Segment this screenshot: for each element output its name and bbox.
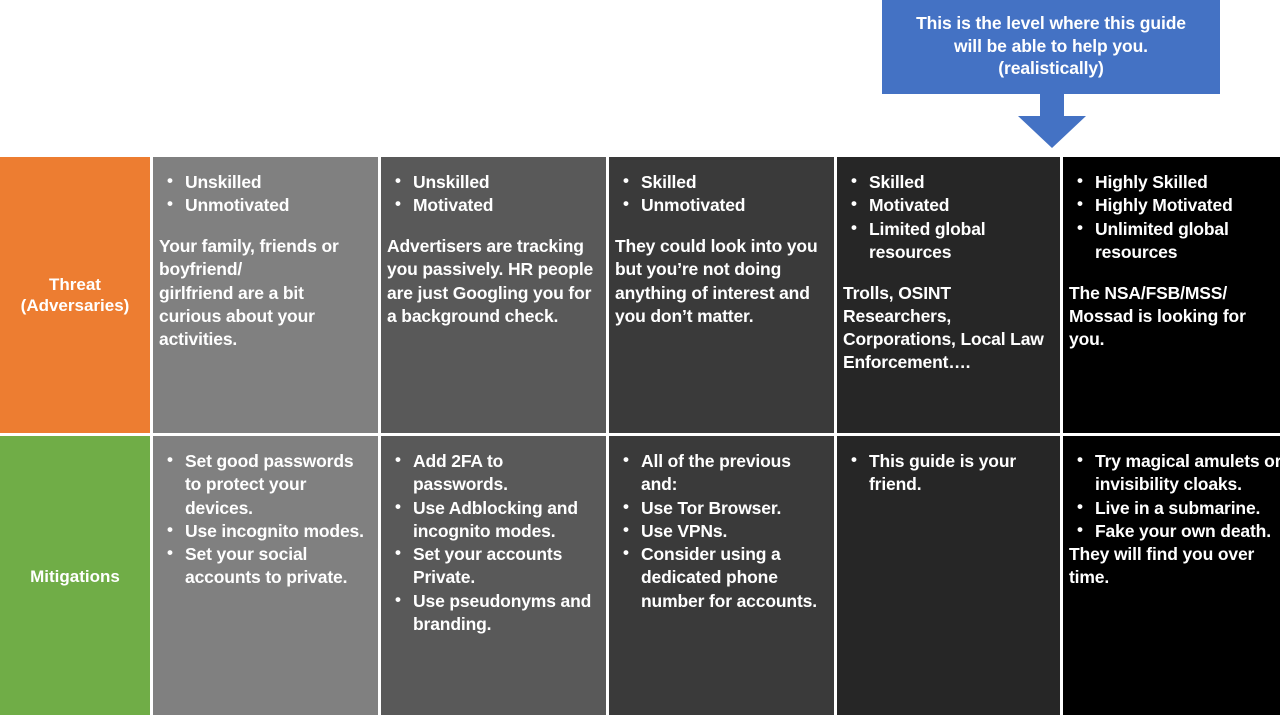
list-item: Set your social accounts to private.: [159, 543, 368, 590]
list-item: This guide is your friend.: [843, 450, 1050, 497]
cell-paragraph: Your family, friends or boyfriend/ girlf…: [159, 235, 368, 351]
threat-cell-level-2-content: Unskilled Motivated Advertisers are trac…: [387, 171, 596, 328]
list-item: Skilled: [843, 171, 1050, 194]
list-item: Live in a submarine.: [1069, 497, 1280, 520]
cell-paragraph: The NSA/FSB/MSS/ Mossad is looking for y…: [1069, 282, 1280, 352]
list-item: Fake your own death.: [1069, 520, 1280, 543]
bullet-list: Unskilled Motivated: [387, 171, 596, 218]
threat-cell-level-5-content: Highly Skilled Highly Motivated Unlimite…: [1069, 171, 1280, 351]
list-item: Consider using a dedicated phone number …: [615, 543, 824, 613]
cell-paragraph: Advertisers are tracking you passively. …: [387, 235, 596, 328]
mitigation-cell-level-1-content: Set good passwords to protect your devic…: [159, 450, 368, 590]
list-item: Use Tor Browser.: [615, 497, 824, 520]
list-item: Use pseudonyms and branding.: [387, 590, 596, 637]
row-header-mitigations-label: Mitigations: [30, 566, 120, 587]
threat-cell-level-4-content: Skilled Motivated Limited global resourc…: [843, 171, 1050, 375]
cell-paragraph: They could look into you but you’re not …: [615, 235, 824, 328]
callout-text: This is the level where this guide will …: [916, 12, 1186, 80]
bullet-list: Skilled Motivated Limited global resourc…: [843, 171, 1050, 264]
threat-cell-level-3-content: Skilled Unmotivated They could look into…: [615, 171, 824, 328]
list-item: Unmotivated: [159, 194, 368, 217]
list-item: Highly Skilled: [1069, 171, 1280, 194]
mitigation-cell-level-5: Try magical amulets or invisibility cloa…: [1063, 436, 1280, 715]
list-item: Set good passwords to protect your devic…: [159, 450, 368, 520]
row-header-threat-label: Threat (Adversaries): [21, 274, 130, 317]
list-item: Try magical amulets or invisibility cloa…: [1069, 450, 1280, 497]
callout-box: This is the level where this guide will …: [882, 0, 1220, 94]
list-item: Use Adblocking and incognito modes.: [387, 497, 596, 544]
bullet-list: Highly Skilled Highly Motivated Unlimite…: [1069, 171, 1280, 264]
threat-cell-level-1: Unskilled Unmotivated Your family, frien…: [153, 157, 378, 433]
mitigation-cell-level-4-content: This guide is your friend.: [843, 450, 1050, 497]
list-item: Limited global resources: [843, 218, 1050, 265]
list-item: Set your accounts Private.: [387, 543, 596, 590]
list-item: Motivated: [387, 194, 596, 217]
threat-cell-level-3: Skilled Unmotivated They could look into…: [609, 157, 834, 433]
cell-paragraph: Trolls, OSINT Researchers, Corporations,…: [843, 282, 1050, 375]
threat-cell-level-5: Highly Skilled Highly Motivated Unlimite…: [1063, 157, 1280, 433]
list-item: All of the previous and:: [615, 450, 824, 497]
cell-paragraph: They will find you over time.: [1069, 543, 1280, 590]
callout-group: This is the level where this guide will …: [882, 0, 1220, 160]
list-item: Unskilled: [387, 171, 596, 194]
down-arrow-icon: [1006, 92, 1098, 148]
mitigation-cell-level-3: All of the previous and: Use Tor Browser…: [609, 436, 834, 715]
matrix-grid: Threat (Adversaries) Unskilled Unmotivat…: [0, 157, 1280, 715]
row-header-mitigations: Mitigations: [0, 436, 150, 715]
list-item: Highly Motivated: [1069, 194, 1280, 217]
bullet-list: Add 2FA to passwords. Use Adblocking and…: [387, 450, 596, 636]
list-item: Use VPNs.: [615, 520, 824, 543]
bullet-list: This guide is your friend.: [843, 450, 1050, 497]
bullet-list: Unskilled Unmotivated: [159, 171, 368, 218]
mitigation-cell-level-5-content: Try magical amulets or invisibility cloa…: [1069, 450, 1280, 590]
list-item: Add 2FA to passwords.: [387, 450, 596, 497]
threat-cell-level-4: Skilled Motivated Limited global resourc…: [837, 157, 1060, 433]
bullet-list: Set good passwords to protect your devic…: [159, 450, 368, 590]
list-item: Skilled: [615, 171, 824, 194]
list-item: Motivated: [843, 194, 1050, 217]
mitigation-cell-level-1: Set good passwords to protect your devic…: [153, 436, 378, 715]
threat-cell-level-1-content: Unskilled Unmotivated Your family, frien…: [159, 171, 368, 351]
list-item: Unskilled: [159, 171, 368, 194]
mitigation-cell-level-3-content: All of the previous and: Use Tor Browser…: [615, 450, 824, 613]
bullet-list: Try magical amulets or invisibility cloa…: [1069, 450, 1280, 543]
threat-cell-level-2: Unskilled Motivated Advertisers are trac…: [381, 157, 606, 433]
mitigation-cell-level-2-content: Add 2FA to passwords. Use Adblocking and…: [387, 450, 596, 636]
bullet-list: Skilled Unmotivated: [615, 171, 824, 218]
bullet-list: All of the previous and: Use Tor Browser…: [615, 450, 824, 613]
mitigation-cell-level-2: Add 2FA to passwords. Use Adblocking and…: [381, 436, 606, 715]
row-header-threat: Threat (Adversaries): [0, 157, 150, 433]
threat-model-matrix-page: This is the level where this guide will …: [0, 0, 1280, 715]
list-item: Use incognito modes.: [159, 520, 368, 543]
list-item: Unmotivated: [615, 194, 824, 217]
mitigation-cell-level-4: This guide is your friend.: [837, 436, 1060, 715]
list-item: Unlimited global resources: [1069, 218, 1280, 265]
